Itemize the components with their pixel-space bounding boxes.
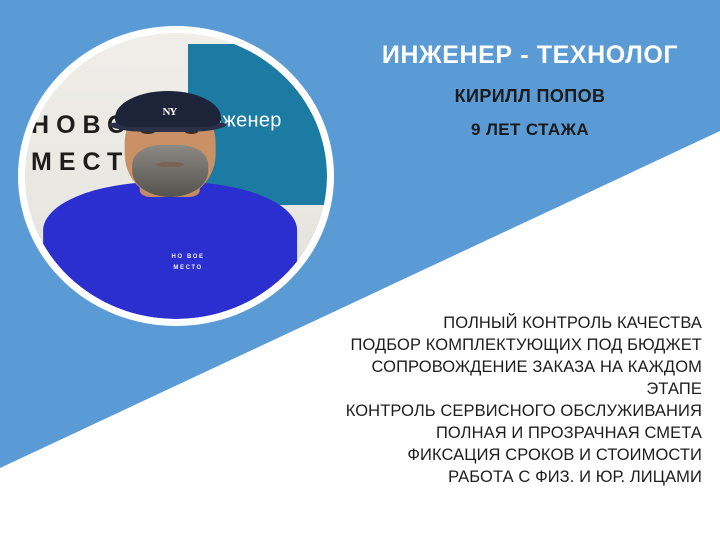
feature-item: КОНТРОЛЬ СЕРВИСНОГО ОБСЛУЖИВАНИЯ: [282, 400, 702, 422]
person-figure: НО ВОЕ МЕСТО NY: [25, 79, 321, 319]
feature-item: РАБОТА С ФИЗ. И ЮР. ЛИЦАМИ: [282, 466, 702, 488]
promo-card: НОВОЕ МЕСТО Инженер НО ВОЕ МЕСТО: [0, 0, 720, 540]
feature-list: ПОЛНЫЙ КОНТРОЛЬ КАЧЕСТВА ПОДБОР КОМПЛЕКТ…: [282, 312, 702, 488]
avito-wordmark: Avito: [654, 510, 706, 532]
feature-item: СОПРОВОЖДЕНИЕ ЗАКАЗА НА КАЖДОМ: [282, 356, 702, 378]
feature-item: ПОЛНЫЙ КОНТРОЛЬ КАЧЕСТВА: [282, 312, 702, 334]
header-block: ИНЖЕНЕР - ТЕХНОЛОГ КИРИЛЛ ПОПОВ 9 ЛЕТ СТ…: [352, 42, 708, 140]
tshirt-logo-line-2: МЕСТО: [172, 263, 205, 274]
cap-logo: NY: [162, 106, 176, 118]
feature-item: ЭТАПЕ: [282, 378, 702, 400]
tshirt-logo: НО ВОЕ МЕСТО: [172, 252, 205, 273]
tshirt-logo-line-1: НО ВОЕ: [172, 252, 205, 263]
avito-dots-icon: [631, 513, 650, 530]
experience-years: 9 ЛЕТ СТАЖА: [352, 121, 708, 140]
employee-name: КИРИЛЛ ПОПОВ: [352, 87, 708, 107]
employee-photo: НОВОЕ МЕСТО Инженер НО ВОЕ МЕСТО: [18, 26, 334, 326]
tshirt: [43, 182, 297, 319]
avito-watermark: Avito: [631, 510, 706, 532]
feature-item: ПОДБОР КОМПЛЕКТУЮЩИХ ПОД БЮДЖЕТ: [282, 334, 702, 356]
photo-content: НОВОЕ МЕСТО Инженер НО ВОЕ МЕСТО: [25, 33, 327, 319]
feature-item: ФИКСАЦИЯ СРОКОВ И СТОИМОСТИ: [282, 444, 702, 466]
beard: [132, 145, 208, 197]
feature-item: ПОЛНАЯ И ПРОЗРАЧНАЯ СМЕТА: [282, 422, 702, 444]
job-title: ИНЖЕНЕР - ТЕХНОЛОГ: [352, 42, 708, 70]
